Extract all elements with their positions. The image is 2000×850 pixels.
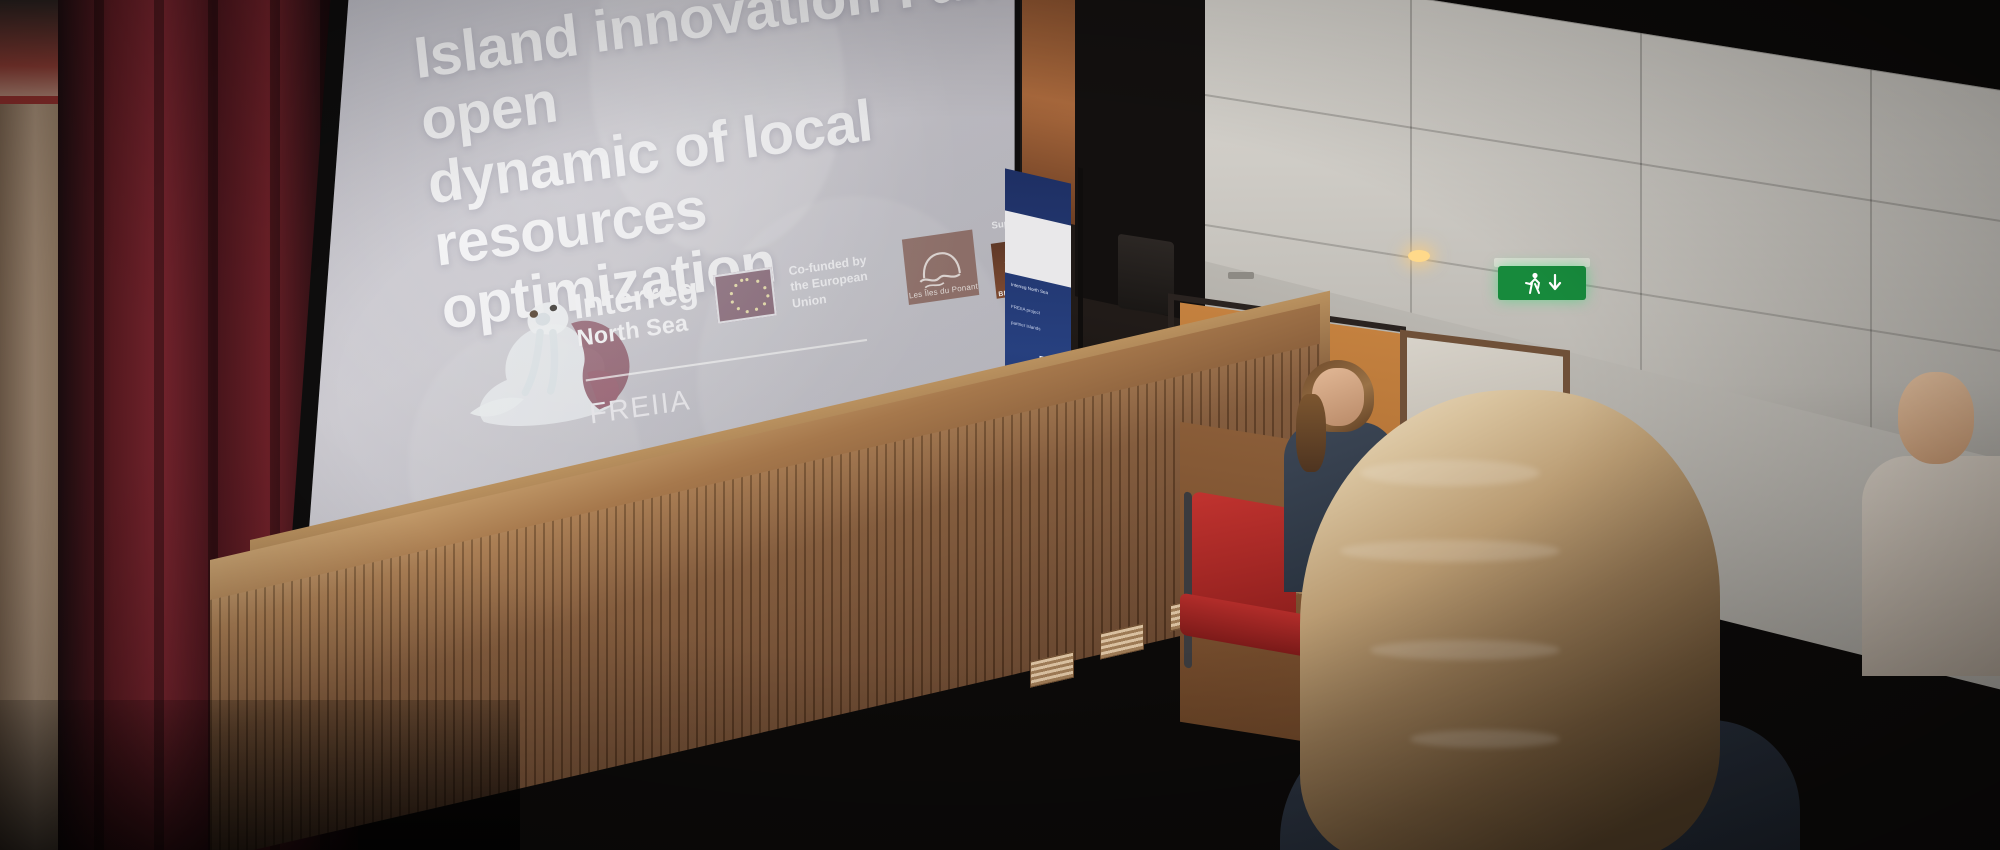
les-iles-du-ponant-logo: Les Îles du Ponant xyxy=(902,229,979,304)
chair-frame xyxy=(1184,491,1192,668)
person-torso xyxy=(1862,456,2000,676)
audience-member-foreground xyxy=(1300,390,1760,850)
eu-flag-icon xyxy=(713,267,776,324)
exit-arrow-icon xyxy=(1548,274,1562,292)
ceiling-speaker xyxy=(1118,234,1174,317)
foreground-shadow xyxy=(0,700,520,850)
interreg-logo: Interreg North Sea xyxy=(572,271,703,350)
banner-logo-strip xyxy=(1005,210,1071,287)
wall-vent xyxy=(1100,623,1144,659)
person-head xyxy=(1898,372,1974,464)
eu-cofunding-statement: Co-funded by the European Union xyxy=(788,250,892,313)
running-man-icon xyxy=(1523,272,1543,294)
audience-member-far-right xyxy=(1872,372,2000,672)
emergency-exit-sign xyxy=(1498,266,1586,300)
person-hair xyxy=(1300,390,1720,850)
ceiling-fixture xyxy=(1228,272,1254,279)
conference-room-photo: Ponant Island innovation : an open dynam… xyxy=(0,0,2000,850)
wall-vent xyxy=(1030,652,1074,688)
ceiling-downlight xyxy=(1408,250,1430,262)
